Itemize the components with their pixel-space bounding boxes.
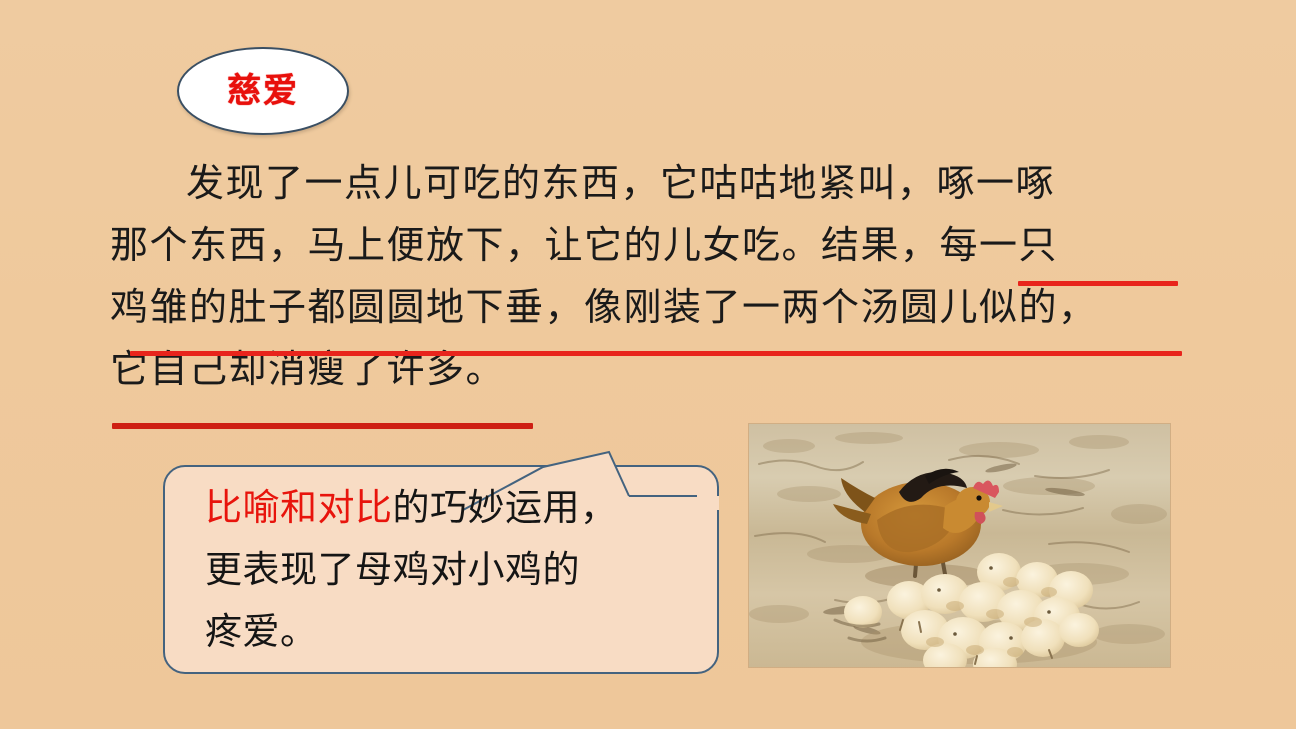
callout-line-1: 比喻和对比的巧妙运用， — [205, 477, 705, 539]
title-badge-label: 慈爱 — [227, 74, 299, 108]
underline-segment-3 — [112, 423, 533, 429]
title-badge: 慈爱 — [177, 47, 349, 135]
passage-line-1: 发现了一点儿可吃的东西，它咕咕地紧叫，啄一啄 — [110, 152, 1190, 214]
passage-line-2: 那个东西，马上便放下，让它的儿女吃。结果，每一只 — [110, 214, 1190, 276]
underline-segment-2 — [130, 351, 1182, 356]
callout-text: 比喻和对比的巧妙运用， 更表现了母鸡对小鸡的 疼爱。 — [205, 477, 705, 663]
passage-text: 发现了一点儿可吃的东西，它咕咕地紧叫，啄一啄 那个东西，马上便放下，让它的儿女吃… — [110, 152, 1190, 400]
passage-line-4: 它自己却消瘦了许多。 — [110, 338, 1190, 400]
callout-line-1-rest: 的巧妙运用， — [393, 486, 618, 529]
hen-with-chicks-photo — [749, 424, 1170, 667]
underline-segment-1 — [1018, 281, 1178, 286]
callout-highlight: 比喻和对比 — [205, 486, 393, 529]
callout-line-3: 疼爱。 — [205, 601, 705, 663]
callout-bubble: 比喻和对比的巧妙运用， 更表现了母鸡对小鸡的 疼爱。 — [163, 450, 719, 674]
slide-canvas: 慈爱 发现了一点儿可吃的东西，它咕咕地紧叫，啄一啄 那个东西，马上便放下，让它的… — [0, 0, 1296, 729]
callout-line-2: 更表现了母鸡对小鸡的 — [205, 539, 705, 601]
